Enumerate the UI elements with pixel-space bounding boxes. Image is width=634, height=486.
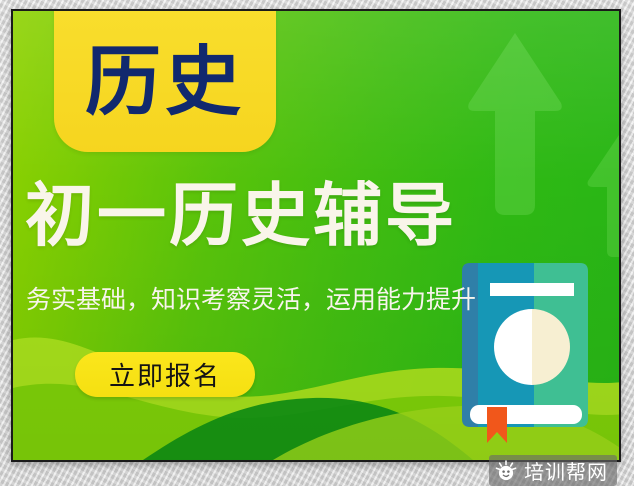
- watermark-text: 培训帮网: [524, 456, 608, 485]
- page-title: 初一历史辅导: [25, 179, 565, 255]
- watermark: 培训帮网: [489, 455, 617, 486]
- course-banner: 历史 初一历史辅导 务实基础，知识考察灵活，运用能力提升 立即报名: [11, 9, 621, 462]
- enroll-now-button[interactable]: 立即报名: [75, 352, 255, 397]
- book-icon: [456, 257, 596, 443]
- subject-badge: 历史: [54, 9, 276, 152]
- subject-badge-label: 历史: [85, 44, 245, 120]
- enroll-now-button-label: 立即报名: [109, 356, 221, 393]
- sun-face-icon: [495, 460, 517, 482]
- up-arrow-small-icon: [585, 129, 621, 259]
- banner-subtitle: 务实基础，知识考察灵活，运用能力提升: [26, 285, 476, 315]
